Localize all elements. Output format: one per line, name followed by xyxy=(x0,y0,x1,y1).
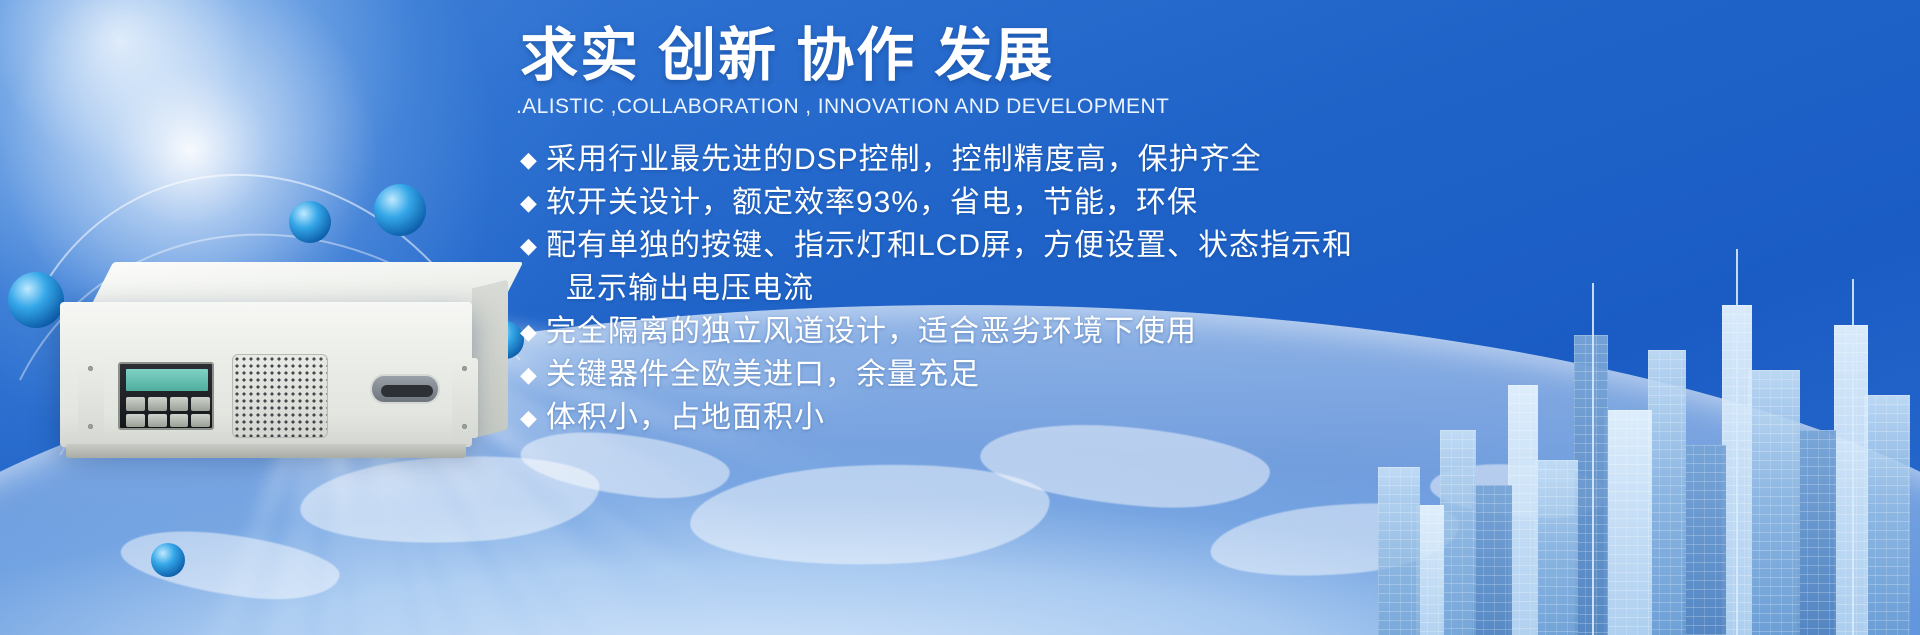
promo-banner: 求实 创新 协作 发展 .ALISTIC ,COLLABORATION , IN… xyxy=(0,0,1920,635)
feature-item-label: 体积小，占地面积小 xyxy=(546,398,825,438)
feature-item: ◆配有单独的按键、指示灯和LCD屏，方便设置、状态指示和 xyxy=(520,226,1480,266)
feature-list: ◆采用行业最先进的DSP控制，控制精度高，保护齐全◆软开关设计，额定效率93%，… xyxy=(520,140,1480,441)
feature-item-label: 采用行业最先进的DSP控制，控制精度高，保护齐全 xyxy=(546,140,1262,180)
diamond-bullet-icon: ◆ xyxy=(520,398,546,438)
feature-item-label: 软开关设计，额定效率93%，省电，节能，环保 xyxy=(546,183,1198,223)
diamond-bullet-icon: ◆ xyxy=(520,183,546,223)
banner-content: 求实 创新 协作 发展 .ALISTIC ,COLLABORATION , IN… xyxy=(0,0,1920,635)
banner-subheadline: .ALISTIC ,COLLABORATION , INNOVATION AND… xyxy=(516,95,1169,119)
diamond-bullet-icon: ◆ xyxy=(520,226,546,266)
feature-item: ◆软开关设计，额定效率93%，省电，节能，环保 xyxy=(520,183,1480,223)
feature-item: ◆完全隔离的独立风道设计，适合恶劣环境下使用 xyxy=(520,312,1480,352)
feature-item-label: 配有单独的按键、指示灯和LCD屏，方便设置、状态指示和 xyxy=(546,226,1353,266)
feature-item: ◆关键器件全欧美进口，余量充足 xyxy=(520,355,1480,395)
feature-item-label: 完全隔离的独立风道设计，适合恶劣环境下使用 xyxy=(546,312,1197,352)
feature-item: ◆显示输出电压电流 xyxy=(520,269,1480,309)
diamond-bullet-icon: ◆ xyxy=(520,312,546,352)
diamond-bullet-icon: ◆ xyxy=(520,355,546,395)
feature-item: ◆体积小，占地面积小 xyxy=(520,398,1480,438)
diamond-bullet-icon: ◆ xyxy=(520,140,546,180)
feature-item-label: 显示输出电压电流 xyxy=(546,269,814,309)
feature-item: ◆采用行业最先进的DSP控制，控制精度高，保护齐全 xyxy=(520,140,1480,180)
banner-headline: 求实 创新 协作 发展 xyxy=(520,24,1054,88)
feature-item-label: 关键器件全欧美进口，余量充足 xyxy=(546,355,980,395)
